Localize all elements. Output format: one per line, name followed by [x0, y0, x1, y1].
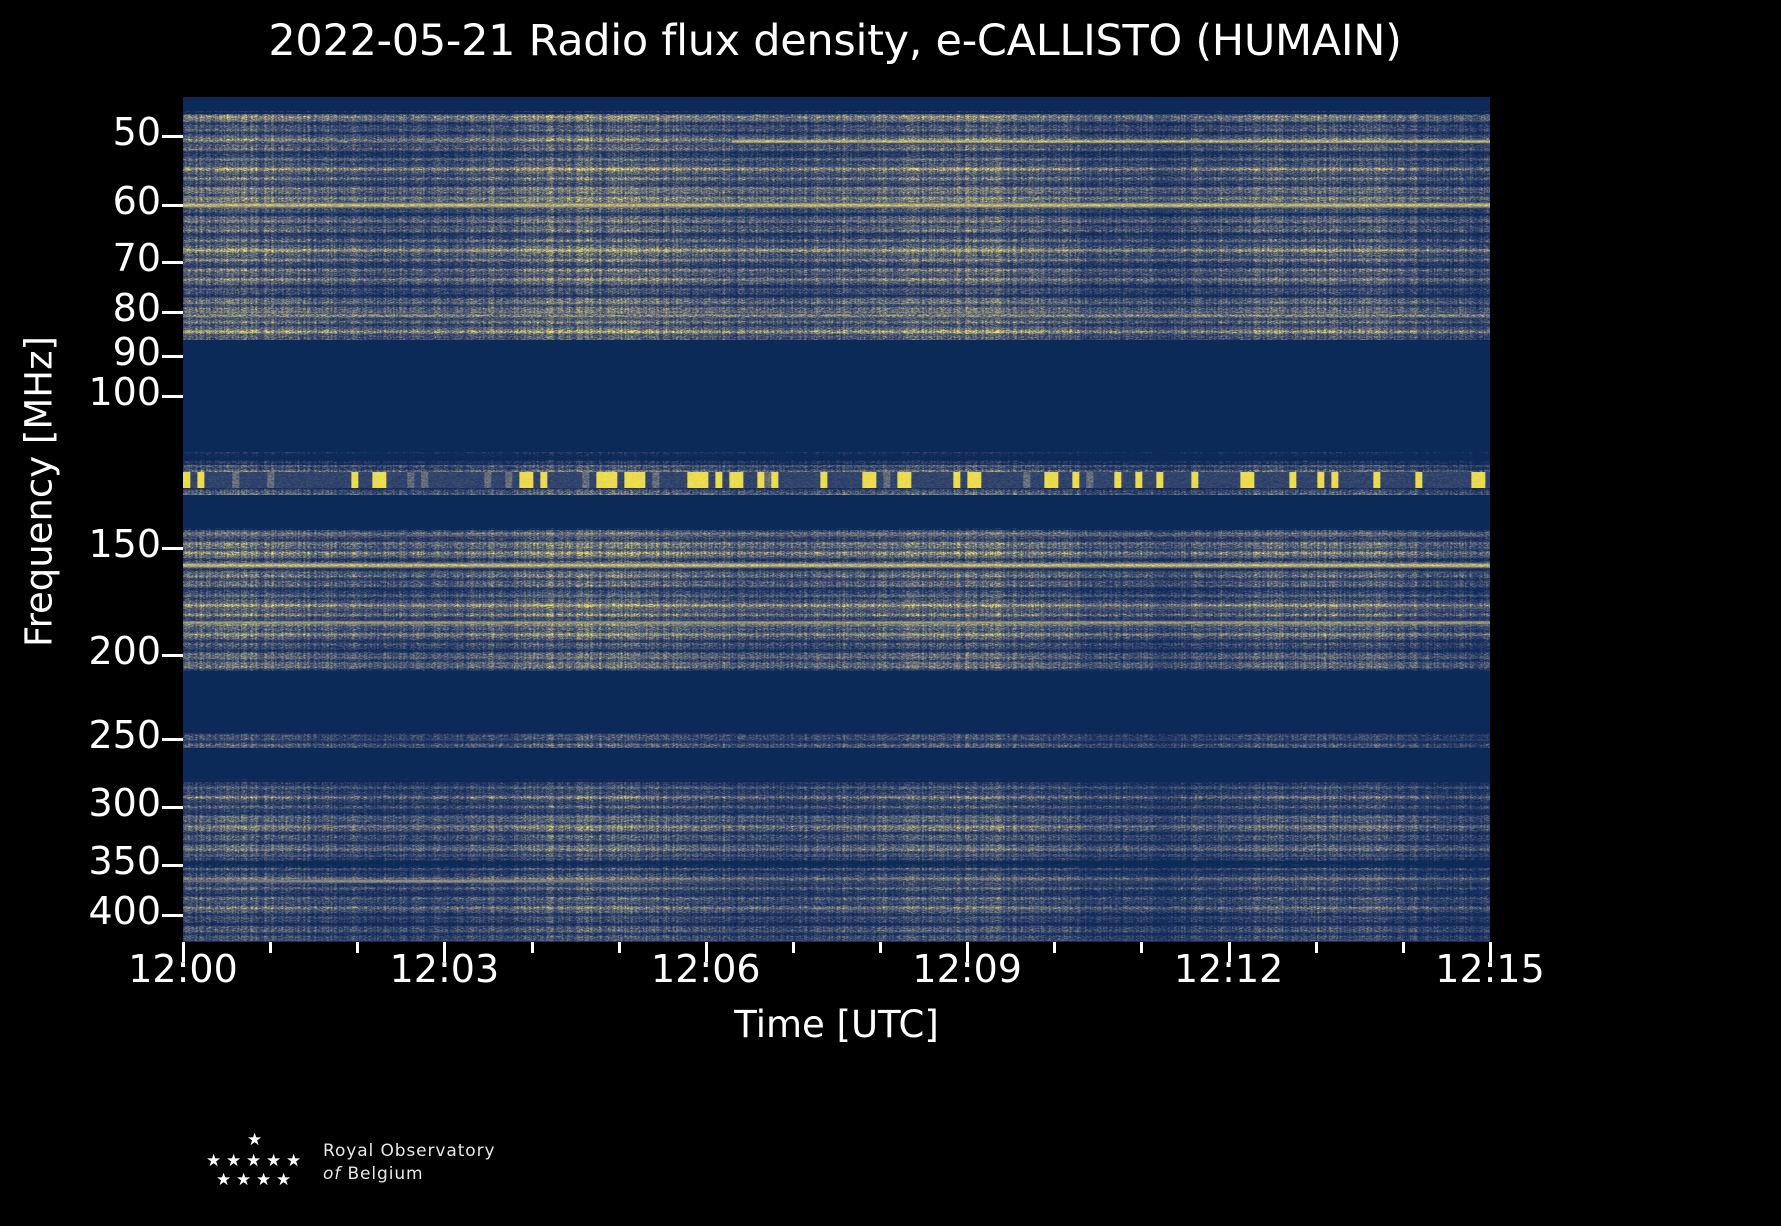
y-tick-mark-250	[162, 738, 183, 741]
y-tick-label-60: 60	[0, 179, 161, 223]
logo-text: Royal Observatory of Belgium	[323, 1140, 495, 1186]
spectrogram-plot-area[interactable]	[183, 97, 1490, 942]
y-tick-mark-150	[162, 547, 183, 550]
star-icon: ★	[206, 1153, 221, 1170]
y-tick-mark-100	[162, 395, 183, 398]
logo-country: Belgium	[341, 1164, 423, 1184]
y-tick-label-150: 150	[0, 522, 161, 566]
star-icon: ★	[246, 1153, 261, 1170]
y-tick-mark-200	[162, 654, 183, 657]
y-tick-mark-350	[162, 864, 183, 867]
y-tick-label-200: 200	[0, 629, 161, 673]
y-tick-label-50: 50	[0, 110, 161, 154]
logo-line-1: Royal Observatory	[323, 1140, 495, 1163]
eu-stars-icon: ★★★★★★★★★★	[200, 1132, 310, 1194]
star-icon: ★	[247, 1132, 262, 1149]
y-tick-mark-70	[162, 261, 183, 264]
star-icon: ★	[266, 1153, 281, 1170]
star-icon: ★	[236, 1172, 251, 1189]
x-tick-label-12-03: 12:03	[324, 947, 564, 991]
x-axis-label: Time [UTC]	[183, 1003, 1490, 1046]
y-tick-mark-300	[162, 806, 183, 809]
y-tick-label-350: 350	[0, 839, 161, 883]
logo-line-2: of Belgium	[323, 1163, 495, 1186]
y-tick-label-300: 300	[0, 781, 161, 825]
y-tick-mark-80	[162, 311, 183, 314]
y-tick-label-90: 90	[0, 330, 161, 374]
logo-of: of	[323, 1164, 341, 1184]
y-tick-label-250: 250	[0, 713, 161, 757]
x-tick-label-12-06: 12:06	[586, 947, 826, 991]
spectrogram-image	[183, 97, 1490, 942]
x-tick-label-12-09: 12:09	[847, 947, 1087, 991]
x-tick-label-12-00: 12:00	[63, 947, 303, 991]
y-tick-mark-60	[162, 204, 183, 207]
y-tick-mark-50	[162, 135, 183, 138]
page-title: 2022-05-21 Radio flux density, e-CALLIST…	[0, 16, 1670, 66]
star-icon: ★	[226, 1153, 241, 1170]
y-tick-mark-400	[162, 914, 183, 917]
star-icon: ★	[216, 1172, 231, 1189]
x-tick-label-12-15: 12:15	[1370, 947, 1610, 991]
y-tick-label-100: 100	[0, 370, 161, 414]
y-tick-label-400: 400	[0, 889, 161, 933]
star-icon: ★	[286, 1153, 301, 1170]
star-icon: ★	[276, 1172, 291, 1189]
y-tick-label-70: 70	[0, 236, 161, 280]
star-icon: ★	[256, 1172, 271, 1189]
y-tick-label-80: 80	[0, 286, 161, 330]
royal-observatory-logo: ★★★★★★★★★★ Royal Observatory of Belgium	[200, 1132, 495, 1194]
spectrogram-figure: 2022-05-21 Radio flux density, e-CALLIST…	[0, 0, 1781, 1226]
y-tick-mark-90	[162, 355, 183, 358]
x-tick-label-12-12: 12:12	[1109, 947, 1349, 991]
